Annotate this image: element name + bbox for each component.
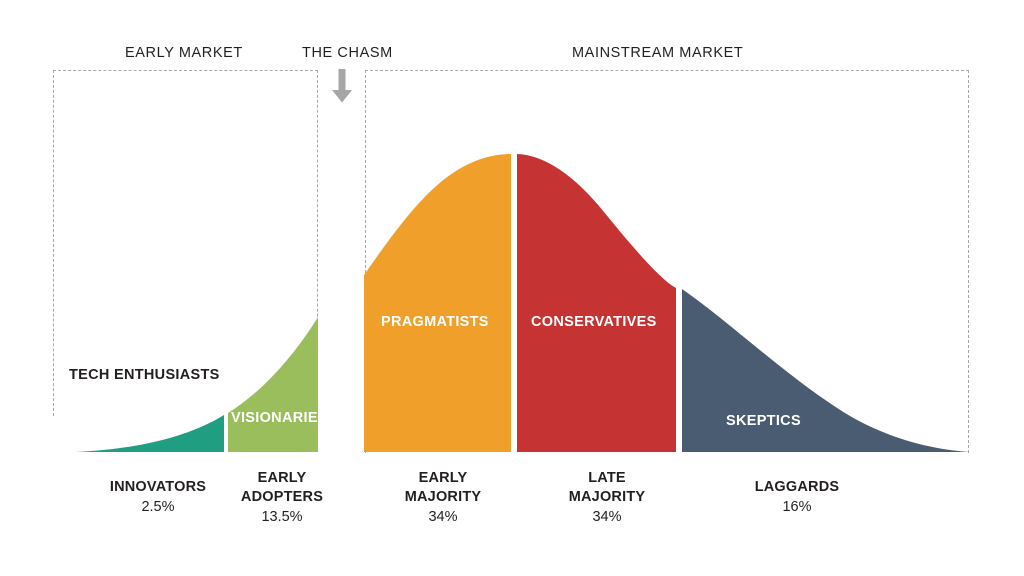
caption-late-majority-percent: 34% [517, 507, 697, 528]
segment-label-skeptics: SKEPTICS [726, 413, 801, 429]
curve-segment-early-majority [364, 154, 511, 452]
caption-early-adopters: EARLY ADOPTERS 13.5% [192, 469, 372, 528]
caption-early-majority-name-line1: EARLY [353, 469, 533, 488]
adoption-lifecycle-diagram: EARLY MARKET THE CHASM MAINSTREAM MARKET… [0, 0, 1024, 576]
caption-laggards-name: LAGGARDS [707, 478, 887, 497]
caption-late-majority: LATE MAJORITY 34% [517, 469, 697, 528]
segment-label-conservatives: CONSERVATIVES [531, 314, 657, 330]
curve-segment-early-adopters [228, 317, 318, 452]
caption-early-adopters-name-line2: ADOPTERS [192, 488, 372, 507]
segment-label-tech-enthusiasts: TECH ENTHUSIASTS [69, 367, 220, 383]
caption-early-majority-name-line2: MAJORITY [353, 488, 533, 507]
caption-early-majority: EARLY MAJORITY 34% [353, 469, 533, 528]
curve-segment-innovators [76, 415, 224, 452]
caption-laggards: LAGGARDS 16% [707, 478, 887, 518]
caption-early-majority-percent: 34% [353, 507, 533, 528]
caption-late-majority-name-line2: MAJORITY [517, 488, 697, 507]
caption-late-majority-name-line1: LATE [517, 469, 697, 488]
caption-early-adopters-percent: 13.5% [192, 507, 372, 528]
caption-laggards-percent: 16% [707, 497, 887, 518]
curve-segment-late-majority [517, 154, 676, 452]
segment-label-visionaries: VISIONARIES [231, 410, 328, 426]
segment-label-pragmatists: PRAGMATISTS [381, 314, 489, 330]
caption-early-adopters-name-line1: EARLY [192, 469, 372, 488]
